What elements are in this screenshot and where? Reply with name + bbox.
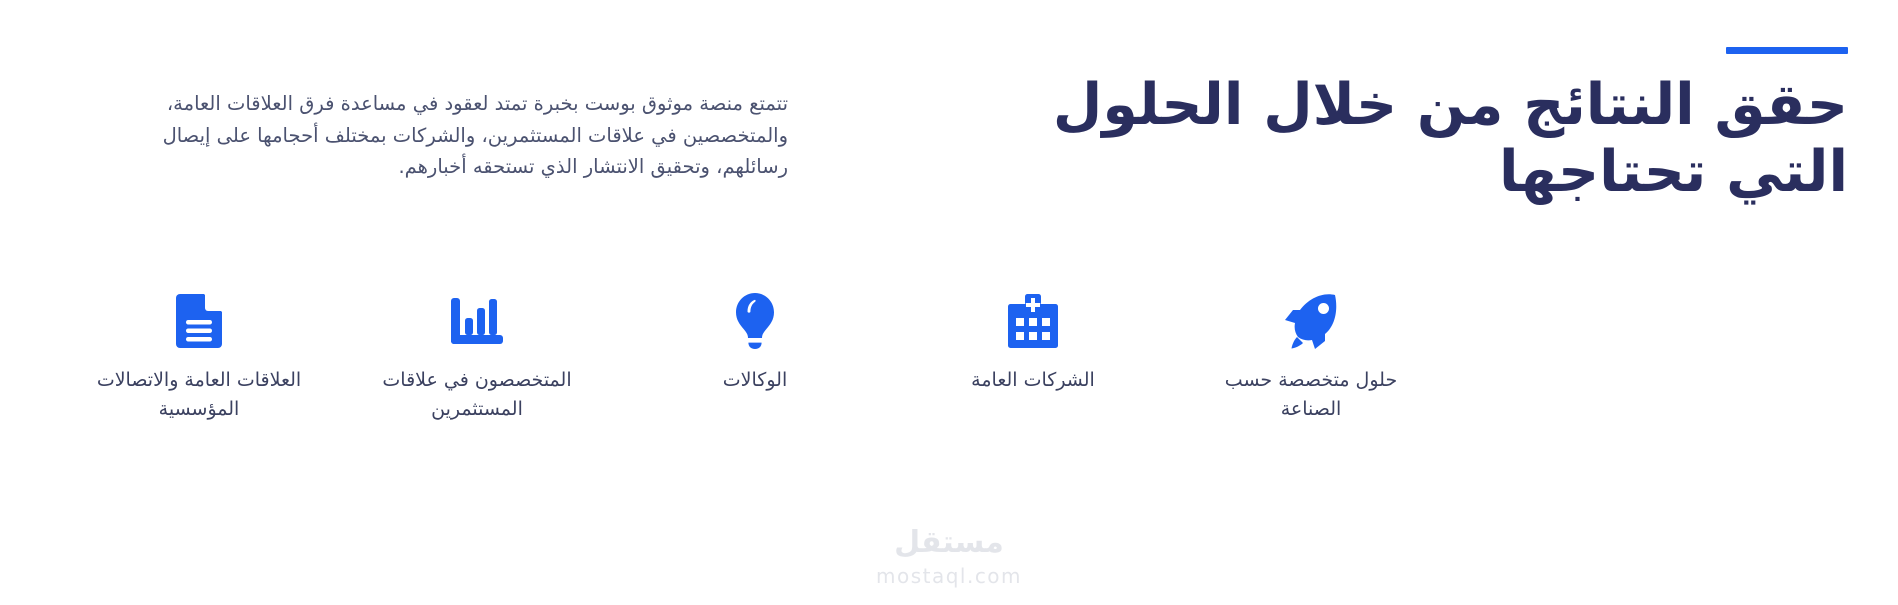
feature-list: العلاقات العامة والاتصالات المؤسسية المت…: [0, 290, 1898, 470]
document-icon: [176, 290, 222, 352]
bar-chart-icon: [451, 290, 503, 352]
feature-label: العلاقات العامة والاتصالات المؤسسية: [97, 366, 301, 424]
feature-item-industry-solutions[interactable]: حلول متخصصة حسب الصناعة: [1172, 290, 1450, 424]
hero-section: حقق النتائج من خلال الحلول التي تحتاجها …: [0, 0, 1898, 260]
feature-label: الوكالات: [723, 366, 787, 395]
accent-bar: [1726, 47, 1848, 54]
hospital-icon: [1008, 290, 1058, 352]
feature-item-investor-relations[interactable]: المتخصصون في علاقات المستثمرين: [338, 290, 616, 424]
feature-label: المتخصصون في علاقات المستثمرين: [382, 366, 571, 424]
lightbulb-icon: [736, 290, 774, 352]
feature-item-public-companies[interactable]: الشركات العامة: [894, 290, 1172, 395]
feature-item-public-relations[interactable]: العلاقات العامة والاتصالات المؤسسية: [60, 290, 338, 424]
watermark-domain-text: mostaql.com: [876, 564, 1022, 588]
rocket-icon: [1285, 290, 1337, 352]
feature-item-agencies[interactable]: الوكالات: [616, 290, 894, 395]
page-title: حقق النتائج من خلال الحلول التي تحتاجها: [1018, 72, 1848, 205]
intro-paragraph: تتمتع منصة موثوق بوست بخبرة تمتد لعقود ف…: [108, 88, 788, 183]
feature-label: الشركات العامة: [971, 366, 1095, 395]
landing-page-section: حقق النتائج من خلال الحلول التي تحتاجها …: [0, 0, 1898, 605]
watermark: مستقل mostaql.com: [839, 525, 1059, 588]
watermark-logo-text: مستقل: [894, 525, 1004, 560]
feature-label: حلول متخصصة حسب الصناعة: [1225, 366, 1397, 424]
